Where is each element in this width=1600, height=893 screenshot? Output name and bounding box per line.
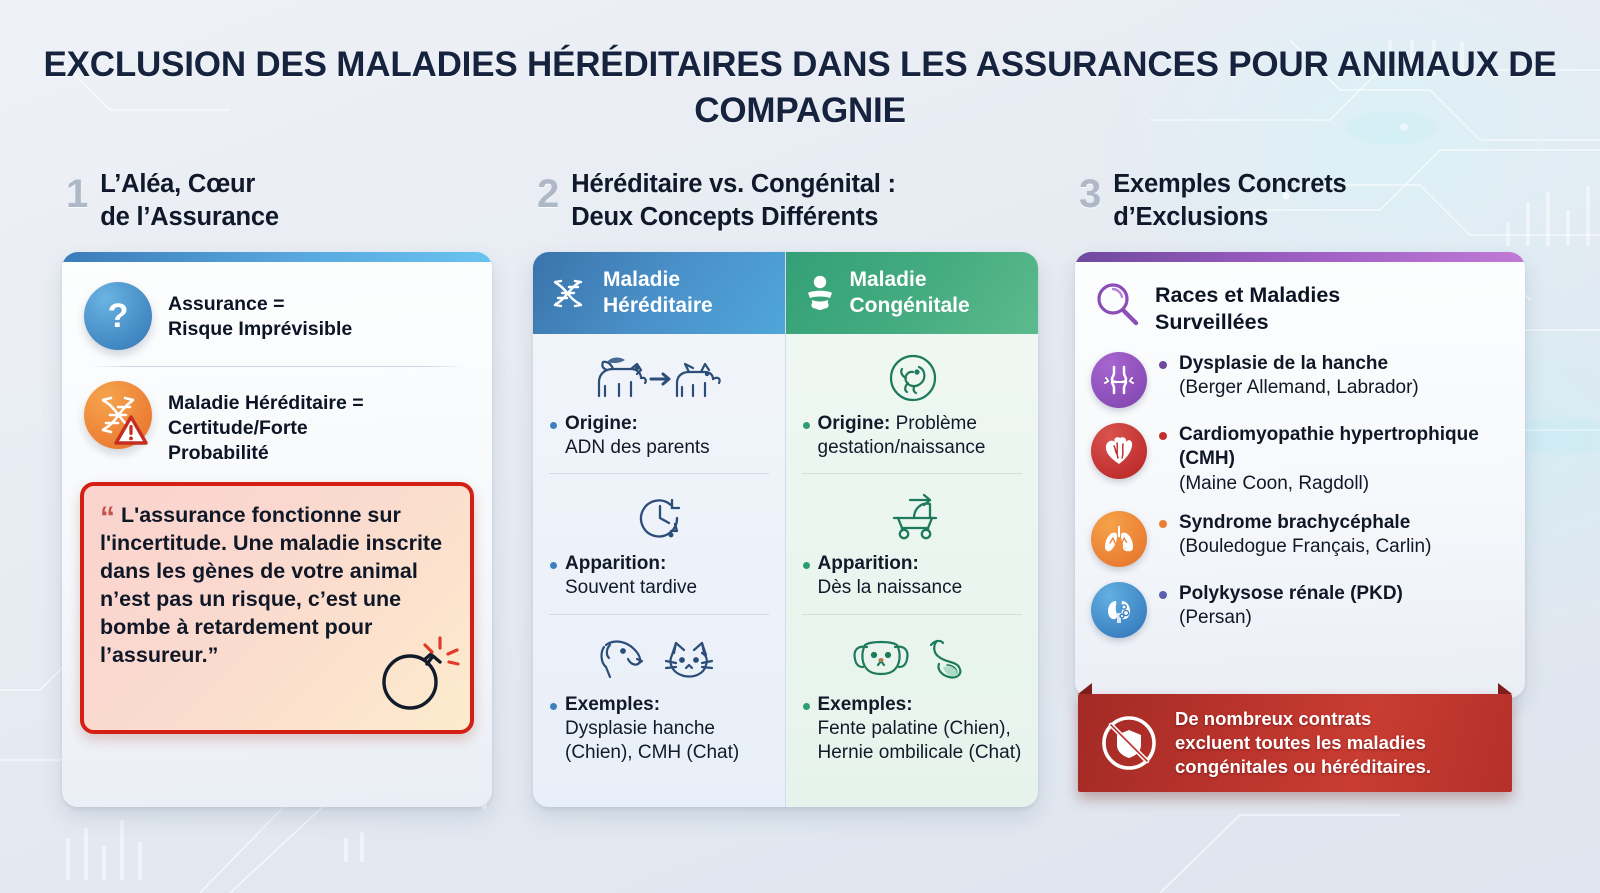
row-value: ADN des parents [565,437,710,458]
warning-ribbon: De nombreux contrats excluent toutes les… [1066,694,1524,792]
column-3-number: 3 [1079,174,1101,214]
column-3-title-line1: Exemples Concrets [1113,170,1346,198]
bullet-dot [550,703,557,710]
bullet-dot [803,422,810,429]
parent-dog-to-puppy-icon [550,348,771,408]
row-value: Dysplasie hanche (Chien), CMH (Chat) [565,718,739,763]
table-row-text: Origine:ADN des parents [550,412,771,460]
bullet-dot [803,703,810,710]
quote-open-mark: “ [100,501,115,534]
column-3-header: 3 Exemples Concrets d’Exclusions [1075,168,1525,246]
card-heading-races: Races et Maladies Surveillées [1091,278,1507,336]
list-item-text: Dysplasie de la hanche (Berger Allemand,… [1179,350,1419,401]
table-cell-origine-hereditary: Origine:ADN des parents [533,334,785,460]
table-cell-origine-congenital: Origine: Problème gestation/naissance [786,334,1039,460]
row-label: Apparition: [565,553,666,574]
disease-breeds: (Bouledogue Français, Carlin) [1179,535,1431,559]
table-row-text: Exemples:Dysplasie hanche (Chien), CMH (… [550,693,771,765]
table-header-hereditary-label: Maladie Héréditaire [603,267,713,318]
list-item: Syndrome brachycéphale (Bouledogue Franç… [1091,509,1507,567]
list-item-text: Syndrome brachycéphale (Bouledogue Franç… [1179,509,1431,560]
row-value: Dès la naissance [818,577,963,598]
disease-breeds: (Persan) [1179,606,1403,630]
card-alea-assurance: ? Assurance = Risque Imprévisible [62,252,492,807]
card-accent-bar-blue [62,252,492,262]
dna-warning-glyph [84,381,152,449]
clock-delay-icon [550,488,771,548]
point-line-1: Assurance = [168,293,285,315]
row-label: Origine: [818,413,891,434]
quote-box: “ “L'assurance fonctionne sur l'incertit… [80,482,474,734]
dna-warning-icon [84,381,152,449]
point-maladie-hereditaire: Maladie Héréditaire = Certitude/Forte Pr… [84,381,470,466]
list-item-text: Polykysose rénale (PKD) (Persan) [1179,580,1403,631]
column-1-header: 1 L’Aléa, Cœur de l’Assurance [62,168,492,246]
bullet-dot [1159,432,1167,440]
hip-joint-icon [1091,352,1147,408]
row-label: Exemples: [818,694,913,715]
table-row-text: Origine: Problème gestation/naissance [803,412,1025,460]
disease-name: Syndrome brachycéphale [1179,511,1431,535]
table-header-congenital: Maladie Congénitale [786,252,1039,334]
table-header-hereditary: Maladie Héréditaire [533,252,785,334]
point-hereditaire-text: Maladie Héréditaire = Certitude/Forte Pr… [168,381,364,466]
disease-breeds: (Berger Allemand, Labrador) [1179,376,1419,400]
column-2-title-line1: Héréditaire vs. Congénital : [571,170,896,198]
point-line-1: Maladie Héréditaire = [168,392,364,414]
point-line-2: Risque Imprévisible [168,318,352,340]
column-1-title: L’Aléa, Cœur de l’Assurance [100,168,279,234]
row-value: Fente palatine (Chien), Hernie ombilical… [818,718,1022,763]
table-row-text: Apparition:Dès la naissance [803,552,1025,600]
table-column-congenital: Maladie Congénitale [786,252,1039,807]
puppy-and-stomach-icon [803,629,1025,689]
row-label: Origine: [565,413,638,434]
comparison-table-card: Maladie Héréditaire [533,252,1038,807]
point-assurance-text: Assurance = Risque Imprévisible [168,282,352,342]
embryo-icon [803,348,1025,408]
bullet-dot [550,422,557,429]
stroller-icon [803,488,1025,548]
table-cell-apparition-hereditary: Apparition:Souvent tardive [533,474,785,600]
column-2-title: Héréditaire vs. Congénital : Deux Concep… [571,168,896,234]
card-races-maladies: Races et Maladies Surveillées [1075,252,1525,698]
column-2: 2 Héréditaire vs. Congénital : Deux Conc… [533,168,1038,807]
question-mark-icon: ? [84,282,152,350]
dna-helix-icon [550,276,590,310]
column-1-number: 1 [66,174,88,214]
disease-name: Dysplasie de la hanche [1179,352,1419,376]
bullet-dot [550,562,557,569]
point-line-2: Certitude/Forte [168,417,308,439]
list-item: Polykysose rénale (PKD) (Persan) [1091,580,1507,638]
column-3-title: Exemples Concrets d’Exclusions [1113,168,1346,234]
column-3: 3 Exemples Concrets d’Exclusions Races e… [1075,168,1525,698]
row-value: Souvent tardive [565,577,697,598]
point-line-3: Probabilité [168,442,269,464]
disease-name: Cardiomyopathie hypertrophique (CMH) [1179,423,1507,472]
dog-and-cat-head-icon [550,629,771,689]
table-row-text: Apparition:Souvent tardive [550,552,771,600]
list-item-text: Cardiomyopathie hypertrophique (CMH) (Ma… [1179,421,1507,496]
column-2-title-line2: Deux Concepts Différents [571,203,878,231]
card-accent-bar-purple [1075,252,1525,262]
table-cell-exemples-congenital: Exemples:Fente palatine (Chien), Hernie … [786,615,1039,765]
no-shield-icon [1098,712,1160,774]
column-3-title-line2: d’Exclusions [1113,203,1268,231]
column-2-number: 2 [537,174,559,214]
disease-breeds: (Maine Coon, Ragdoll) [1179,472,1507,496]
column-1: 1 L’Aléa, Cœur de l’Assurance ? Assuranc… [62,168,492,807]
point-assurance-risque: ? Assurance = Risque Imprévisible [84,282,470,350]
column-2-header: 2 Héréditaire vs. Congénital : Deux Conc… [533,168,1038,246]
page-title: EXCLUSION DES MALADIES HÉRÉDITAIRES DANS… [0,42,1600,133]
bullet-dot [1159,361,1167,369]
divider [88,366,466,367]
svg-text:?: ? [108,297,129,335]
quote-text: “ “L'assurance fonctionne sur l'incertit… [100,502,452,670]
magnifier-icon [1091,278,1143,330]
disease-name: Polykysose rénale (PKD) [1179,582,1403,606]
ribbon-text: De nombreux contrats excluent toutes les… [1175,707,1431,779]
row-label: Apparition: [818,553,919,574]
bullet-dot [803,562,810,569]
column-1-title-line2: de l’Assurance [100,203,279,231]
table-cell-exemples-hereditary: Exemples:Dysplasie hanche (Chien), CMH (… [533,615,785,765]
table-cell-apparition-congenital: Apparition:Dès la naissance [786,474,1039,600]
table-row-text: Exemples:Fente palatine (Chien), Hernie … [803,693,1025,765]
list-item: Dysplasie de la hanche (Berger Allemand,… [1091,350,1507,408]
card-heading-text: Races et Maladies Surveillées [1155,278,1340,336]
row-label: Exemples: [565,694,660,715]
baby-icon [803,274,837,312]
heart-icon [1091,423,1147,479]
column-1-title-line1: L’Aléa, Cœur [100,170,255,198]
table-header-congenital-label: Maladie Congénitale [850,267,970,318]
bullet-dot [1159,591,1167,599]
question-mark-glyph: ? [98,296,138,336]
kidneys-icon [1091,582,1147,638]
table-column-hereditary: Maladie Héréditaire [533,252,786,807]
infographic-canvas: EXCLUSION DES MALADIES HÉRÉDITAIRES DANS… [0,0,1600,893]
quote-visible-text: L'assurance fonctionne sur l'incertitude… [100,503,442,667]
bullet-dot [1159,520,1167,528]
lungs-icon [1091,511,1147,567]
list-item: Cardiomyopathie hypertrophique (CMH) (Ma… [1091,421,1507,496]
ribbon-body: De nombreux contrats excluent toutes les… [1078,694,1512,792]
